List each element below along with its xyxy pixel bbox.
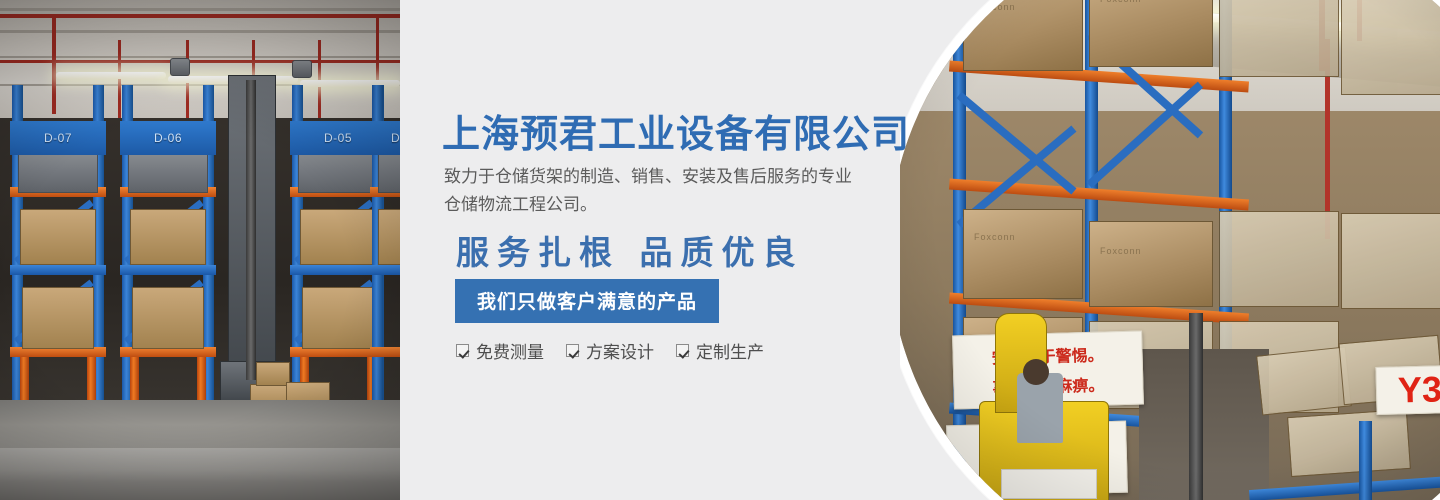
feature-list: 免费测量 方案设计 定制生产 — [456, 338, 764, 363]
feature-item-scheme-design[interactable]: 方案设计 — [566, 338, 654, 363]
right-photo-vignette — [900, 0, 1440, 500]
left-warehouse-photo: D-07 D-06 — [0, 0, 400, 500]
feature-label: 定制生产 — [696, 338, 764, 363]
company-subtitle: 致力于仓储货架的制造、销售、安装及售后服务的专业仓储物流工程公司。 — [444, 163, 856, 219]
hero-banner: D-07 D-06 — [0, 0, 1440, 500]
company-title: 上海预君工业设备有限公司 — [442, 103, 910, 158]
right-warehouse-photo: Foxconn Foxconn Foxconn Foxconn — [900, 0, 1440, 500]
circle-photo-frame: Foxconn Foxconn Foxconn Foxconn — [900, 0, 1440, 500]
check-icon — [456, 344, 469, 357]
feature-item-free-measure[interactable]: 免费测量 — [456, 338, 544, 363]
slogan-text: 服务扎根 品质优良 — [456, 226, 804, 274]
aisle-marker-edge-label: Y3 — [1398, 371, 1440, 408]
check-icon — [566, 344, 579, 357]
feature-label: 免费测量 — [476, 338, 544, 363]
promise-badge: 我们只做客户满意的产品 — [455, 279, 719, 323]
check-icon — [676, 344, 689, 357]
feature-label: 方案设计 — [586, 338, 654, 363]
left-photo-vignette — [0, 0, 400, 500]
banner-content: 上海预君工业设备有限公司 致力于仓储货架的制造、销售、安装及售后服务的专业仓储物… — [442, 0, 912, 500]
feature-item-custom-production[interactable]: 定制生产 — [676, 338, 764, 363]
aisle-marker-sign-edge: Y3 — [1375, 365, 1440, 415]
